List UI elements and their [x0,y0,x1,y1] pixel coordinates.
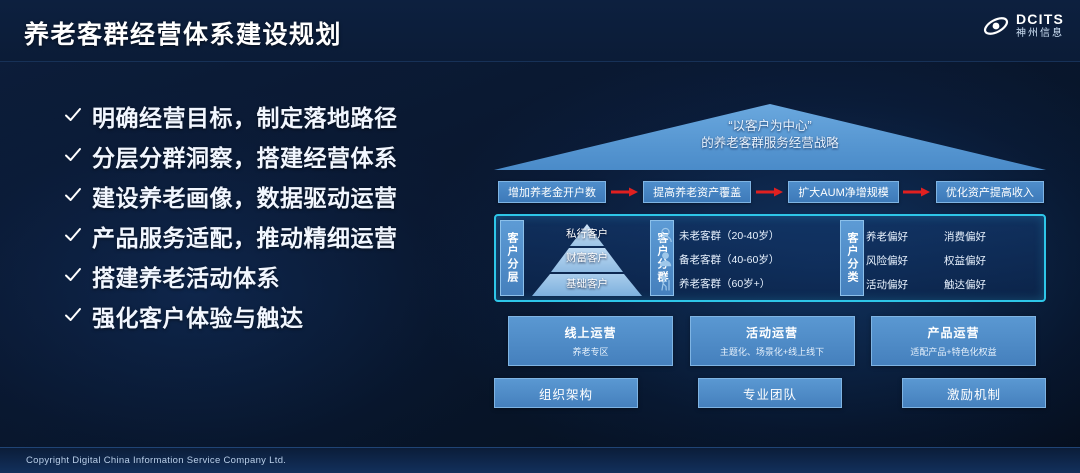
bullet-label: 明确经营目标，制定落地路径 [92,104,398,132]
tier-pyramid: 私行客户 财富客户 基础客户 [528,222,646,298]
operations-subtitle: 适配产品+特色化权益 [910,345,996,358]
roof-text: “以客户为中心” 的养老客群服务经营战略 [490,118,1050,152]
segment-item-label: 备老客群（40-60岁） [679,252,779,267]
list-item: 搭建养老活动体系 [64,264,464,292]
list-item: 分层分群洞察，搭建经营体系 [64,144,464,172]
dcits-swirl-icon [983,13,1009,39]
tier-level-label: 财富客户 [528,250,646,265]
customer-segment-section: 客户分群 未老客群（20-40岁） 备老客群（40-60岁） [650,220,840,296]
operations-row: 线上运营 养老专区 活动运营 主题化、场景化+线上线下 产品运营 适配产品+特色… [508,316,1036,366]
logo-cn-text: 神州信息 [1016,29,1064,39]
list-item: 强化客户体验与触达 [64,304,464,332]
bullet-label: 分层分群洞察，搭建经营体系 [92,144,398,172]
classification-item: 触达偏好 [926,272,1004,296]
kpi-chain: 增加养老金开户数 提高养老资产覆盖 扩大AUM净增规模 优化资产提高收入 [498,180,1044,204]
slide-footer: Copyright Digital China Information Serv… [0,447,1080,473]
operations-card[interactable]: 产品运营 适配产品+特色化权益 [871,316,1036,366]
brand-logo: DCITS 神州信息 [983,12,1064,39]
slide-header: 养老客群经营体系建设规划 DCITS 神州信息 [0,0,1080,62]
operations-title: 活动运营 [746,324,798,341]
bullet-label: 产品服务适配，推动精细运营 [92,224,398,252]
check-icon [64,106,82,132]
classification-item: 养老偏好 [848,224,926,248]
operations-subtitle: 主题化、场景化+线上线下 [720,345,824,358]
classification-item: 活动偏好 [848,272,926,296]
kpi-box[interactable]: 扩大AUM净增规模 [788,181,898,203]
operations-subtitle: 养老专区 [572,345,608,358]
segment-list: 未老客群（20-40岁） 备老客群（40-60岁） 养老客群（60岁+） [658,223,838,295]
classification-grid: 养老偏好 消费偏好 风险偏好 权益偏好 活动偏好 触达偏好 [848,224,1004,296]
foundation-card[interactable]: 激励机制 [902,378,1046,408]
check-icon [64,266,82,292]
check-icon [64,146,82,172]
roof-line-2: 的养老客群服务经营战略 [490,135,1050,152]
classification-item: 消费偏好 [926,224,1004,248]
page-title: 养老客群经营体系建设规划 [24,15,342,51]
segment-item-label: 未老客群（20-40岁） [679,228,779,243]
customer-core-panel: 客户分层 私行客户 财富客户 基础客户 [494,214,1046,302]
operations-card[interactable]: 活动运营 主题化、场景化+线上线下 [690,316,855,366]
strategy-diagram: “以客户为中心” 的养老客群服务经营战略 增加养老金开户数 提高养老资产覆盖 扩… [480,88,1060,428]
elderly-person-icon [658,275,673,291]
operations-card[interactable]: 线上运营 养老专区 [508,316,673,366]
kpi-box[interactable]: 优化资产提高收入 [936,181,1044,203]
operations-title: 产品运营 [927,324,979,341]
copyright-text: Copyright Digital China Information Serv… [0,455,286,466]
list-item: 未老客群（20-40岁） [658,223,838,247]
tier-level-label: 私行客户 [528,226,646,241]
operations-title: 线上运营 [564,324,616,341]
bullet-label: 建设养老画像，数据驱动运营 [92,184,398,212]
logo-wordmark: DCITS 神州信息 [1016,12,1064,39]
arrow-right-icon [756,186,784,198]
classification-item: 风险偏好 [848,248,926,272]
logo-en-text: DCITS [1016,12,1064,26]
arrow-right-icon [611,186,639,198]
list-item: 明确经营目标，制定落地路径 [64,104,464,132]
check-icon [64,306,82,332]
classification-item: 权益偏好 [926,248,1004,272]
customer-classification-section: 客户分类 养老偏好 消费偏好 风险偏好 权益偏好 活动偏好 触达偏好 [840,220,1010,296]
adult-person-icon [658,251,673,267]
list-item: 养老客群（60岁+） [658,271,838,295]
list-item: 产品服务适配，推动精细运营 [64,224,464,252]
arrow-right-icon [903,186,931,198]
bullet-label: 搭建养老活动体系 [92,264,280,292]
foundation-row: 组织架构 专业团队 激励机制 [494,378,1046,408]
check-icon [64,226,82,252]
foundation-card[interactable]: 组织架构 [494,378,638,408]
young-person-icon [658,227,673,243]
strategy-roof: “以客户为中心” 的养老客群服务经营战略 [490,98,1050,176]
bullet-list: 明确经营目标，制定落地路径 分层分群洞察，搭建经营体系 建设养老画像，数据驱动运… [64,104,464,344]
list-item: 建设养老画像，数据驱动运营 [64,184,464,212]
tier-label: 客户分层 [500,220,524,296]
foundation-card[interactable]: 专业团队 [698,378,842,408]
kpi-box[interactable]: 增加养老金开户数 [498,181,606,203]
bullet-label: 强化客户体验与触达 [92,304,304,332]
slide-background: 养老客群经营体系建设规划 DCITS 神州信息 明确经营目标，制定落地路径 [0,0,1080,473]
roof-line-1: “以客户为中心” [490,118,1050,135]
list-item: 备老客群（40-60岁） [658,247,838,271]
segment-item-label: 养老客群（60岁+） [679,276,770,291]
kpi-box[interactable]: 提高养老资产覆盖 [643,181,751,203]
customer-tier-section: 客户分层 私行客户 财富客户 基础客户 [500,220,650,296]
check-icon [64,186,82,212]
tier-level-label: 基础客户 [528,276,646,291]
